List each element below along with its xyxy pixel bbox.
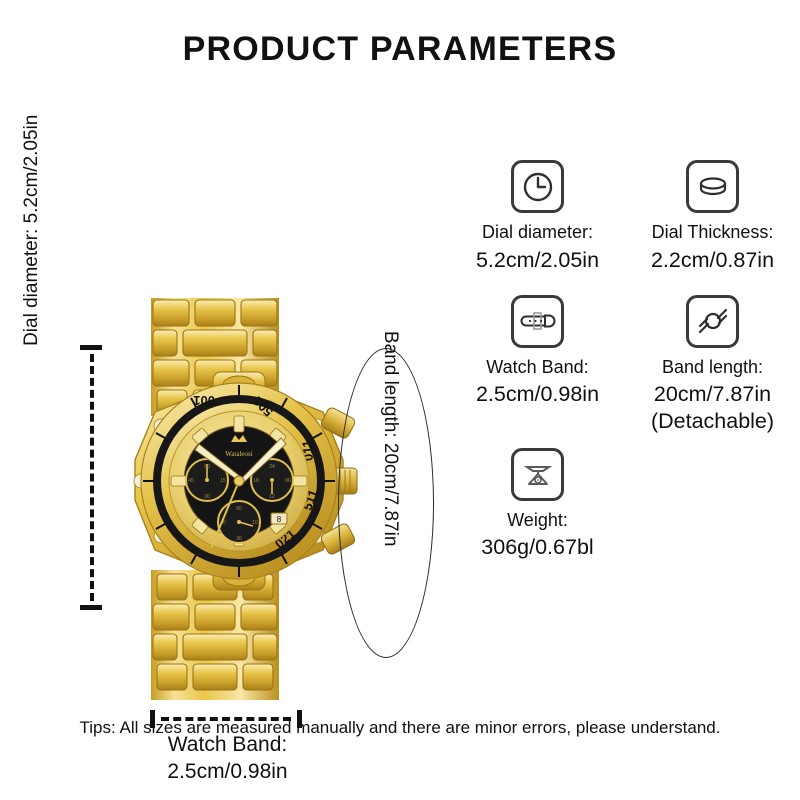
- spec-item-watch-band: Watch Band: 2.5cm/0.98in: [450, 295, 625, 434]
- svg-text:18: 18: [253, 478, 259, 484]
- disc-icon: [686, 160, 739, 213]
- footer-tip: Tips: All sizes are measured manually an…: [0, 718, 800, 738]
- svg-text:001: 001: [193, 393, 215, 408]
- spec-value: 306g/0.67bl: [481, 534, 593, 560]
- watch-dial: Wataleosi 6015 3045 2406 1218: [169, 411, 309, 551]
- svg-text:30: 30: [204, 494, 210, 500]
- strap-buckle-icon: [511, 295, 564, 348]
- dimension-watch-band-label: Watch Band: 2.5cm/0.98in: [105, 732, 350, 786]
- clock-icon: [511, 160, 564, 213]
- detachable-band-icon: [686, 295, 739, 348]
- spec-label: Dial diameter:: [482, 222, 593, 244]
- spec-value: 2.5cm/0.98in: [476, 381, 599, 407]
- spec-item-band-length: Band length: 20cm/7.87in (Detachable): [625, 295, 800, 434]
- svg-text:10: 10: [252, 520, 258, 526]
- svg-text:15: 15: [220, 478, 226, 484]
- spec-item-weight: Weight: 306g/0.67bl: [450, 448, 625, 561]
- svg-text:30: 30: [236, 536, 242, 542]
- subdial-bottom: 6010 3040: [218, 501, 260, 543]
- svg-text:60: 60: [236, 506, 242, 512]
- spec-label: Band length:: [662, 357, 763, 379]
- svg-text:12: 12: [269, 494, 275, 500]
- spec-value: 2.2cm/0.87in: [651, 247, 774, 273]
- spec-label: Watch Band:: [486, 357, 588, 379]
- svg-text:60: 60: [204, 464, 210, 470]
- svg-text:06: 06: [285, 478, 291, 484]
- spec-row: Watch Band: 2.5cm/0.98in Band length: 20…: [450, 295, 800, 434]
- spec-label: Dial Thickness:: [652, 222, 774, 244]
- svg-text:8: 8: [277, 515, 282, 524]
- spec-label: Weight:: [507, 510, 568, 532]
- spec-value: 5.2cm/2.05in: [476, 247, 599, 273]
- spec-grid: Dial diameter: 5.2cm/2.05in Dial Thickne…: [450, 160, 800, 561]
- svg-text:Wataleosi: Wataleosi: [225, 450, 252, 458]
- spec-row: Dial diameter: 5.2cm/2.05in Dial Thickne…: [450, 160, 800, 273]
- dimension-band-length-label: Band length: 20cm/7.87in: [379, 331, 401, 501]
- spec-item-dial-diameter: Dial diameter: 5.2cm/2.05in: [450, 160, 625, 273]
- scale-icon: [511, 448, 564, 501]
- spec-value: 20cm/7.87in (Detachable): [651, 381, 774, 433]
- dimension-dial-diameter-label: Dial diameter: 5.2cm/2.05in: [21, 146, 43, 346]
- dimension-dashed-line: [90, 354, 94, 601]
- dimension-dial-diameter: [72, 345, 112, 610]
- spec-item-dial-thickness: Dial Thickness: 2.2cm/0.87in: [625, 160, 800, 273]
- dimension-watch-band-value: 2.5cm/0.98in: [105, 759, 350, 786]
- spec-row: Weight: 306g/0.67bl: [450, 448, 800, 561]
- page-title: PRODUCT PARAMETERS: [0, 30, 800, 69]
- dimension-cap-top: [80, 345, 102, 350]
- svg-text:45: 45: [188, 478, 194, 484]
- dimension-cap-bottom: [80, 605, 102, 610]
- product-figure: 001 501 011 511 021: [0, 140, 440, 610]
- svg-text:24: 24: [269, 464, 275, 470]
